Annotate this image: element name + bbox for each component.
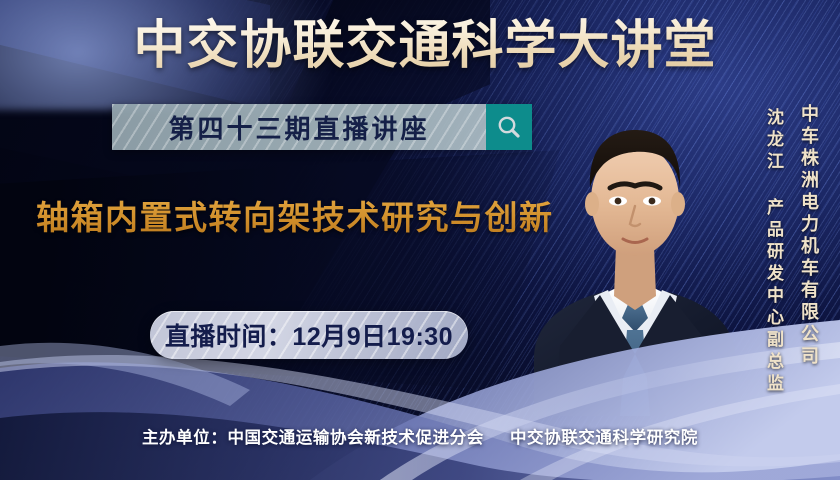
livestream-poster: 中交协联交通科学大讲堂 第四十三期直播讲座 轴箱内置式转向架技术研究与创新 直播… — [0, 0, 840, 480]
page-title: 中交协联交通科学大讲堂 — [120, 17, 730, 75]
episode-banner-body: 第四十三期直播讲座 — [112, 104, 486, 150]
livestream-time-badge: 直播时间：12月9日19:30 — [150, 311, 468, 359]
footer-organizer: 中国交通运输协会新技术促进分会 — [227, 429, 484, 447]
footer-organizer-label: 主办单位： — [142, 429, 228, 447]
footer-co-organizer: 中交协联交通科学研究院 — [510, 429, 698, 447]
speaker-company: 中车株洲电力机车有限公司 — [796, 104, 822, 368]
episode-banner: 第四十三期直播讲座 — [112, 104, 532, 150]
search-icon — [496, 114, 522, 140]
speaker-name-role: 沈龙江 产品研发中心副总监 — [761, 108, 786, 396]
livestream-time-text: 直播时间：12月9日19:30 — [165, 317, 453, 353]
search-icon-box[interactable] — [486, 104, 532, 150]
lecture-title: 轴箱内置式转向架技术研究与创新 — [36, 196, 554, 240]
episode-label: 第四十三期直播讲座 — [168, 109, 429, 146]
footer-organizers: 主办单位：中国交通运输协会新技术促进分会中交协联交通科学研究院 — [0, 424, 840, 448]
